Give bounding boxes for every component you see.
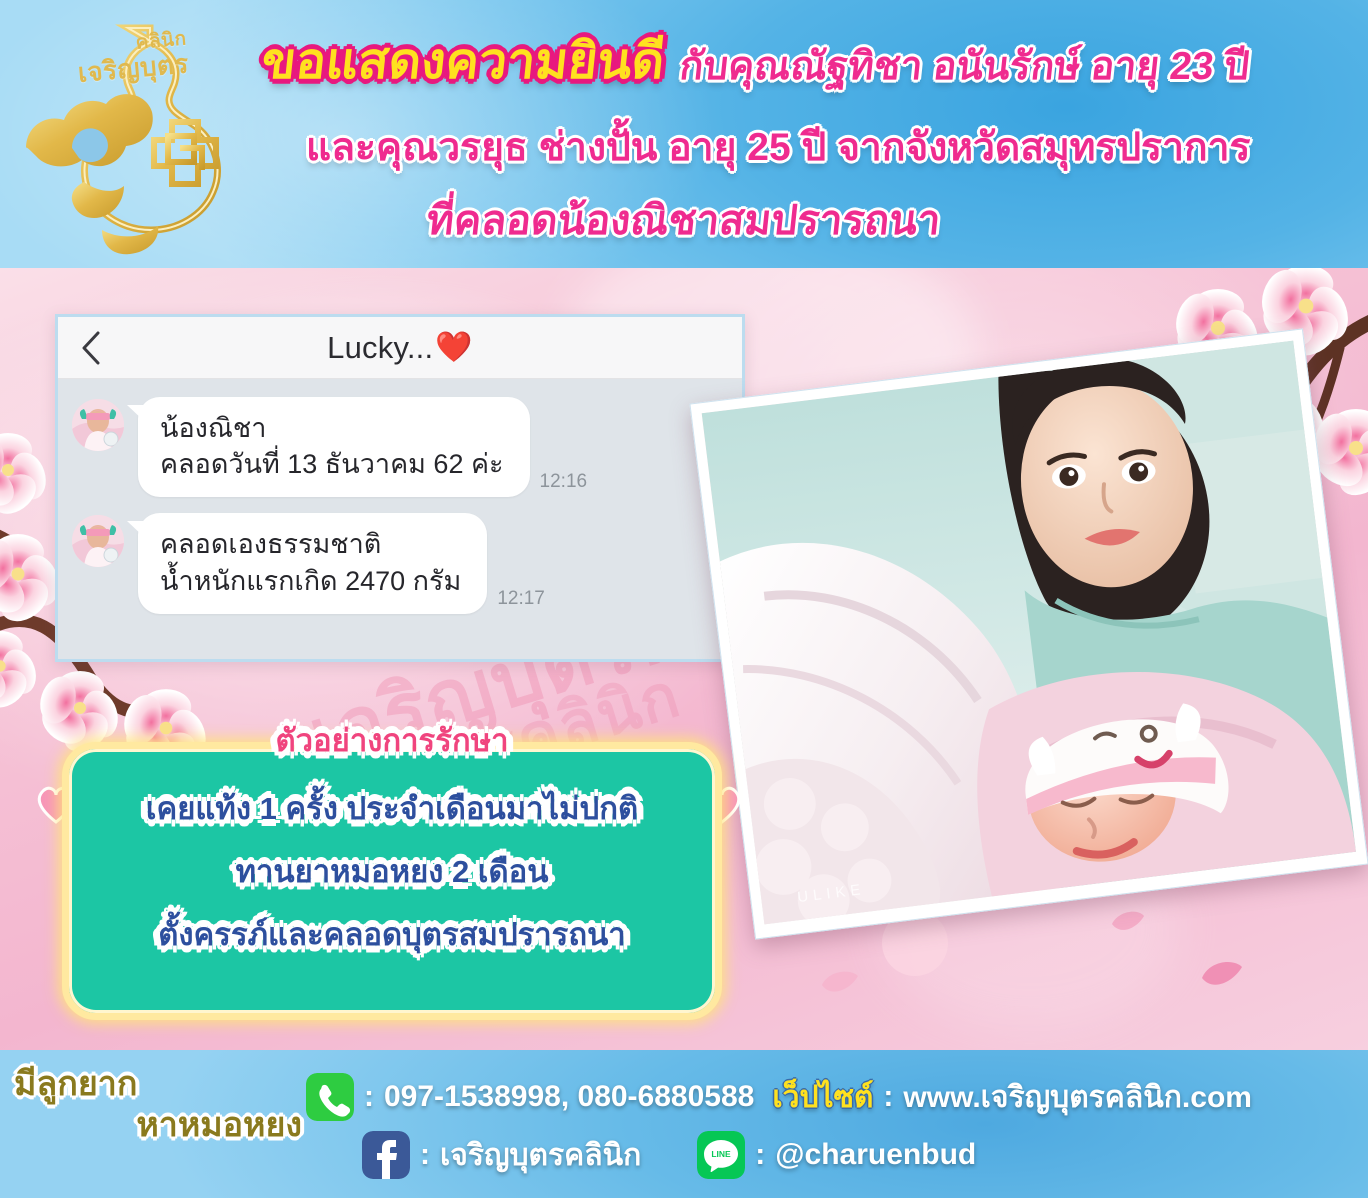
- treatment-line: ตั้งครรภ์และคลอดบุตรสมปรารถนา: [69, 919, 715, 950]
- chat-bubble-line: น้องณิชา: [160, 410, 504, 446]
- facebook-icon[interactable]: [362, 1131, 410, 1179]
- red-heart-icon: ❤️: [435, 330, 473, 365]
- chat-message-list: น้องณิชา คลอดวันที่ 13 ธันวาคม 62 ค่ะ 12…: [58, 379, 742, 662]
- headline-line3: ที่คลอดน้องณิชาสมปรารถนา: [425, 200, 943, 241]
- back-chevron-icon[interactable]: [80, 331, 102, 365]
- baby-avatar[interactable]: [72, 515, 124, 567]
- chat-bubble: คลอดเองธรรมชาติ น้ำหนักแรกเกิด 2470 กรัม: [138, 513, 487, 613]
- mother-and-newborn-photo: ULIKE: [689, 328, 1368, 939]
- chat-message-row: คลอดเองธรรมชาติ น้ำหนักแรกเกิด 2470 กรัม…: [58, 509, 742, 613]
- footer-row-phone-website: : 097-1538998, 080-6880588 เว็ปไซต์ : ww…: [306, 1068, 1252, 1126]
- chat-bubble-line: น้ำหนักแรกเกิด 2470 กรัม: [160, 563, 461, 599]
- facebook-name[interactable]: เจริญบุตรคลินิก: [440, 1132, 641, 1179]
- headline-row-3: ที่คลอดน้องณิชาสมปรารถนา: [0, 200, 1368, 241]
- header-banner: คลินิก เจริญบุตร ขอแสดงความยินดี กับคุณณ…: [0, 0, 1368, 268]
- headline-congrats: ขอแสดงความยินดี: [259, 36, 667, 86]
- chat-title-text: Lucky...: [327, 330, 433, 366]
- chat-timestamp: 12:17: [497, 588, 545, 614]
- headline-row-1: ขอแสดงความยินดี กับคุณณัฐทิชา อนันรักษ์ …: [262, 36, 1249, 86]
- chat-message-row: น้องณิชา คลอดวันที่ 13 ธันวาคม 62 ค่ะ 12…: [58, 393, 742, 497]
- footer-contact-bar: มีลูกยาก หาหมอหยง : 097-1538998, 080-688…: [0, 1050, 1368, 1198]
- treatment-box-title: ตัวอย่างการรักษา: [276, 715, 509, 765]
- photo-image: ULIKE: [702, 341, 1356, 925]
- footer-slogan: มีลูกยาก หาหมอหยง: [14, 1064, 306, 1147]
- chat-bubble: น้องณิชา คลอดวันที่ 13 ธันวาคม 62 ค่ะ: [138, 397, 530, 497]
- headline-row-2: และคุณวรยุธ ช่างปั้น อายุ 25 ปี จากจังหว…: [306, 128, 1251, 167]
- line-id[interactable]: @charuenbud: [775, 1138, 976, 1172]
- website-colon: :: [883, 1080, 893, 1114]
- body-section: เจริญบุตรคลินิก เจริญบุตรคลินิก: [0, 268, 1368, 1050]
- baby-avatar[interactable]: [72, 399, 124, 451]
- treatment-line: ทานยาหมอหยง 2 เดือน: [69, 856, 715, 887]
- poster-root: คลินิก เจริญบุตร ขอแสดงความยินดี กับคุณณ…: [0, 0, 1368, 1198]
- footer-slogan-line2: หาหมอหยง: [14, 1105, 306, 1146]
- footer-row-facebook-line: : เจริญบุตรคลินิก LINE : @charuenbud: [306, 1126, 1252, 1184]
- headline-line2: และคุณวรยุธ ช่างปั้น อายุ 25 ปี จากจังหว…: [306, 126, 1251, 169]
- petal: [1200, 958, 1244, 994]
- line-icon[interactable]: LINE: [697, 1131, 745, 1179]
- treatment-example-box: ตัวอย่างการรักษา เคยแท้ง 1 ครั้ง ประจำเด…: [62, 742, 722, 1020]
- footer-slogan-line1: มีลูกยาก: [14, 1064, 306, 1105]
- headline-names: กับคุณณัฐทิชา อนันรักษ์ อายุ 23 ปี: [678, 47, 1251, 86]
- phone-icon[interactable]: [306, 1073, 354, 1121]
- chat-bubble-line: คลอดวันที่ 13 ธันวาคม 62 ค่ะ: [160, 446, 504, 482]
- chat-header: Lucky... ❤️: [58, 317, 742, 379]
- svg-text:LINE: LINE: [712, 1149, 732, 1159]
- facebook-colon: :: [420, 1138, 430, 1172]
- chat-title: Lucky... ❤️: [58, 330, 742, 366]
- website-label: เว็ปไซต์: [772, 1074, 873, 1121]
- treatment-line: เคยแท้ง 1 ครั้ง ประจำเดือนมาไม่ปกติ: [69, 793, 715, 824]
- chat-timestamp: 12:16: [540, 471, 588, 497]
- chat-screenshot-panel: Lucky... ❤️: [55, 314, 745, 662]
- treatment-lines: เคยแท้ง 1 ครั้ง ประจำเดือนมาไม่ปกติ ทานย…: [69, 793, 715, 950]
- phone-colon: :: [364, 1080, 374, 1114]
- website-url[interactable]: www.เจริญบุตรคลินิก.com: [903, 1074, 1252, 1121]
- chat-bubble-line: คลอดเองธรรมชาติ: [160, 526, 461, 562]
- footer-contact-rows: : 097-1538998, 080-6880588 เว็ปไซต์ : ww…: [306, 1068, 1252, 1184]
- line-colon: :: [755, 1138, 765, 1172]
- petal: [820, 968, 860, 1000]
- phone-numbers[interactable]: 097-1538998, 080-6880588: [384, 1080, 754, 1114]
